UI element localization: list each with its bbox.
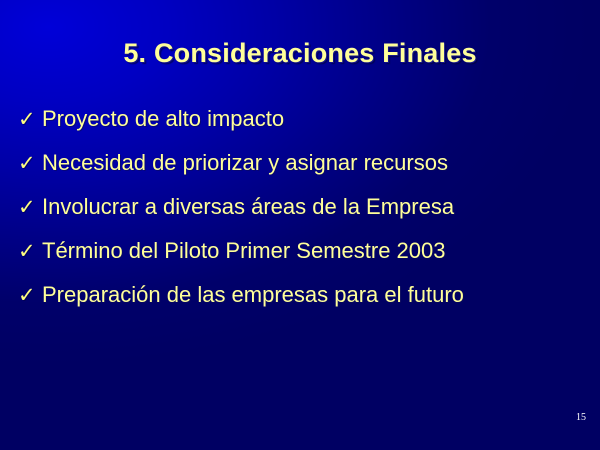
list-item-label: Preparación de las empresas para el futu… (42, 284, 582, 306)
page-title: 5. Consideraciones Finales (123, 38, 476, 69)
list-item-label: Necesidad de priorizar y asignar recurso… (42, 152, 582, 174)
check-icon: ✓ (18, 153, 42, 174)
list-item: ✓ Involucrar a diversas áreas de la Empr… (18, 196, 582, 240)
check-icon: ✓ (18, 285, 42, 306)
check-icon: ✓ (18, 241, 42, 262)
list-item: ✓ Necesidad de priorizar y asignar recur… (18, 152, 582, 196)
check-icon: ✓ (18, 109, 42, 130)
slide-page-number: 15 (576, 412, 586, 423)
list-item-label: Proyecto de alto impacto (42, 108, 582, 130)
slide-title-block: 5. Consideraciones Finales (0, 38, 600, 69)
list-item: ✓ Preparación de las empresas para el fu… (18, 284, 582, 328)
bullet-list: ✓ Proyecto de alto impacto ✓ Necesidad d… (18, 108, 582, 328)
presentation-slide: 5. Consideraciones Finales ✓ Proyecto de… (0, 0, 600, 450)
check-icon: ✓ (18, 197, 42, 218)
list-item: ✓ Término del Piloto Primer Semestre 200… (18, 240, 582, 284)
list-item: ✓ Proyecto de alto impacto (18, 108, 582, 152)
list-item-label: Término del Piloto Primer Semestre 2003 (42, 240, 582, 262)
list-item-label: Involucrar a diversas áreas de la Empres… (42, 196, 582, 218)
